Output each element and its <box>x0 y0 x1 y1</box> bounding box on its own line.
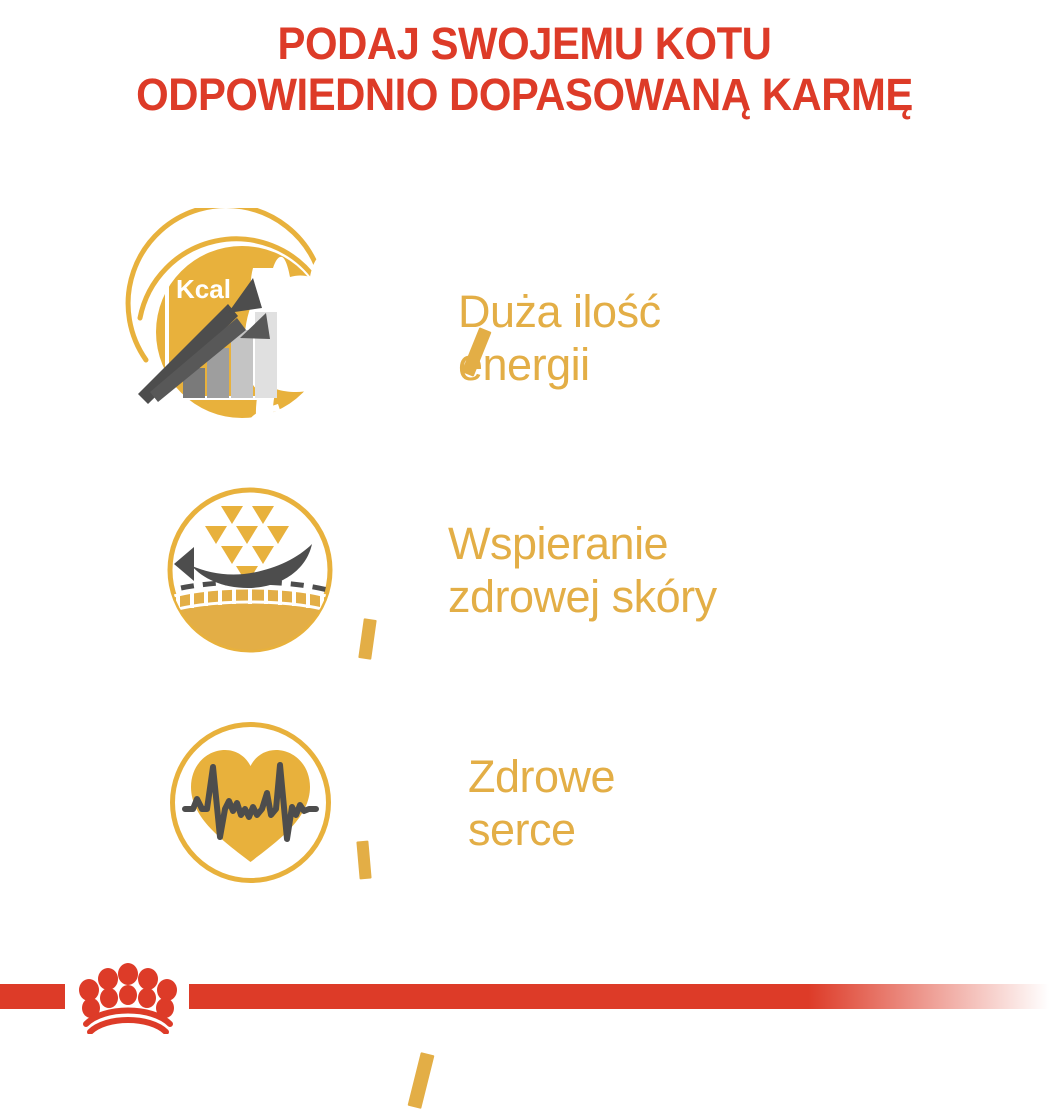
feature-label-skin: Wspieranie zdrowej skóry <box>448 517 1049 623</box>
feature-icon-slot-energy: Kcal <box>0 208 480 468</box>
skin-barrier-icon <box>160 480 340 660</box>
connector-dash-bottom <box>408 1052 435 1109</box>
page-title: PODAJ SWOJEMU KOTU ODPOWIEDNIO DOPASOWAN… <box>0 18 1049 120</box>
feature-label-energy: Duża ilość energii <box>458 285 1049 391</box>
kcal-label: Kcal <box>176 274 231 304</box>
heart-ecg-icon <box>163 715 338 890</box>
cat-kcal-chart-icon: Kcal <box>110 208 370 468</box>
feature-icon-slot-heart <box>0 715 500 890</box>
feature-icon-slot-skin <box>0 480 500 660</box>
footer-bar-left <box>0 984 65 1009</box>
feature-item-skin: Wspieranie zdrowej skóry <box>0 480 1049 660</box>
page-title-line-1: PODAJ SWOJEMU KOTU <box>37 18 1013 69</box>
feature-item-heart: Zdrowe serce <box>0 715 1049 890</box>
footer-bar-right <box>189 984 1049 1009</box>
royal-canin-crown-logo <box>72 962 184 1034</box>
brand-footer <box>0 962 1049 1049</box>
feature-list: Kcal Duża ilość energii <box>0 160 1049 950</box>
feature-item-energy: Kcal Duża ilość energii <box>0 208 1049 468</box>
page-title-line-2: ODPOWIEDNIO DOPASOWANĄ KARMĘ <box>37 69 1013 120</box>
feature-label-heart: Zdrowe serce <box>468 750 1049 856</box>
